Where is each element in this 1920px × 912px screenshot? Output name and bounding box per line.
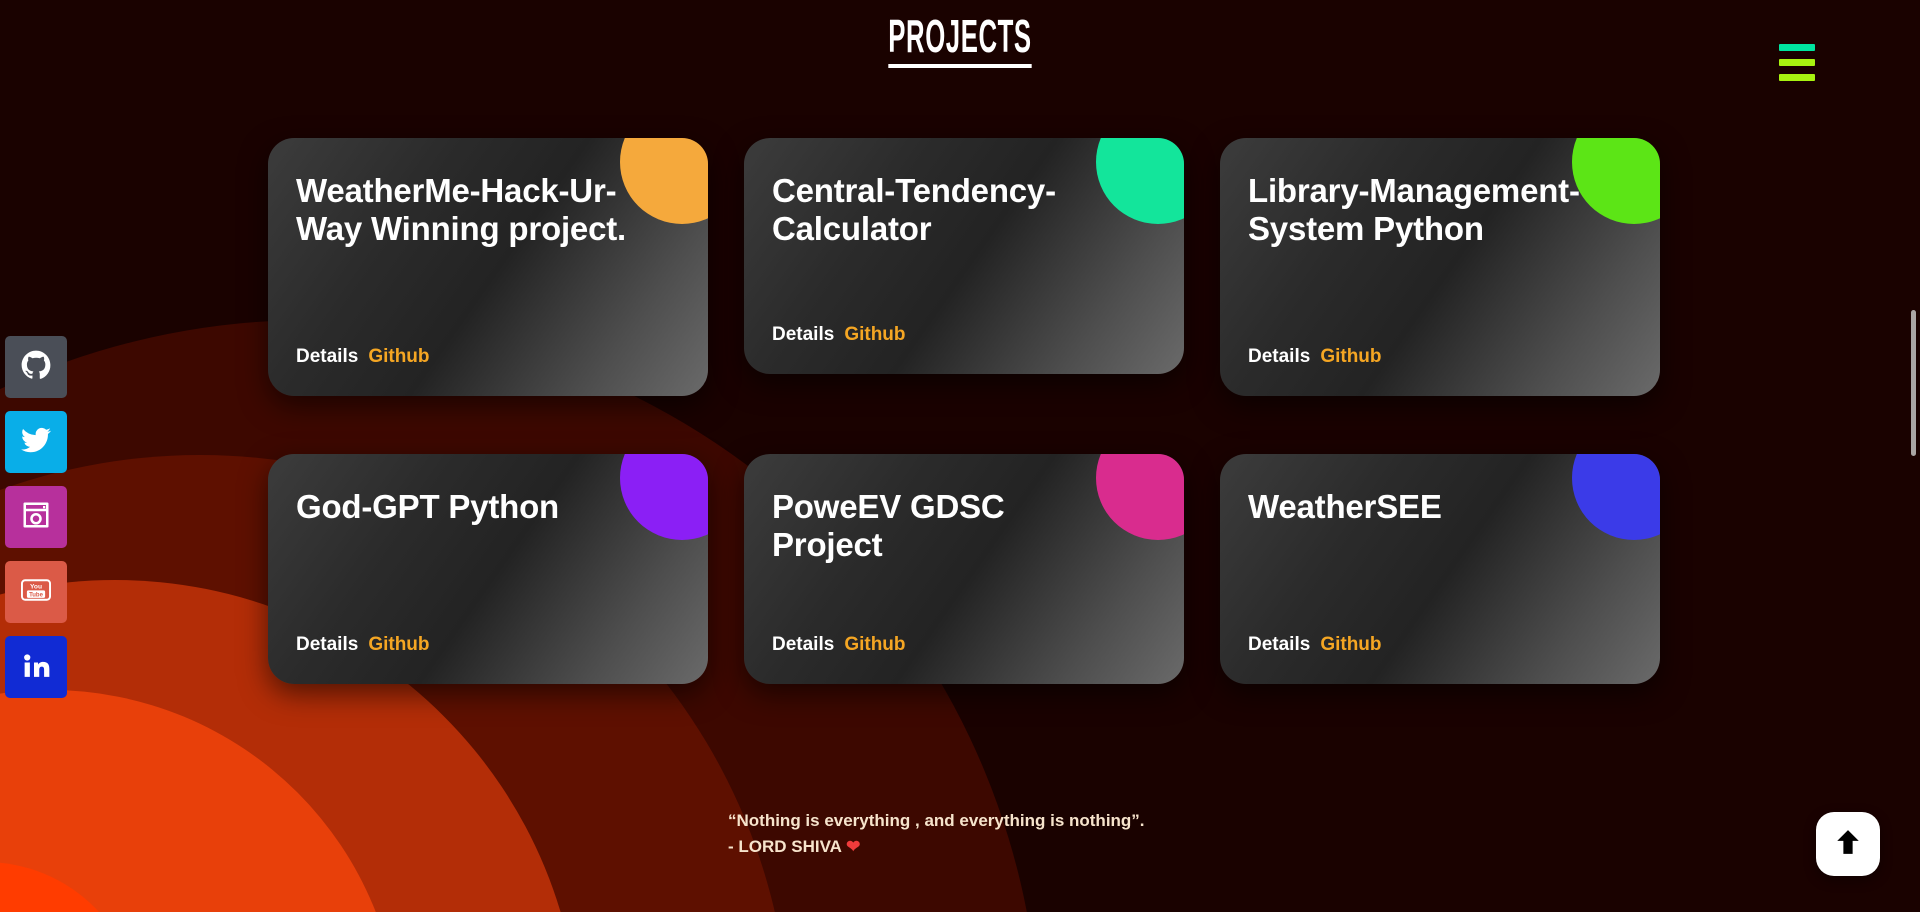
- background-ring-4: [0, 690, 400, 912]
- hamburger-bar-1: [1779, 44, 1815, 51]
- github-link[interactable]: Github: [1320, 634, 1381, 656]
- linkedin-icon: [21, 650, 51, 685]
- social-sidebar: YouTube: [5, 336, 67, 698]
- quote-line-2-wrap: - LORD SHIVA ❤: [728, 834, 1145, 860]
- social-link-youtube[interactable]: YouTube: [5, 561, 67, 623]
- details-link[interactable]: Details: [1248, 346, 1310, 368]
- projects-page: PROJECTS YouTube: [0, 0, 1920, 912]
- projects-grid: WeatherMe-Hack-Ur-Way Winning project. D…: [268, 138, 1668, 684]
- project-links: Details Github: [296, 346, 680, 368]
- hamburger-bar-3: [1779, 74, 1815, 81]
- project-card[interactable]: WeatherMe-Hack-Ur-Way Winning project. D…: [268, 138, 708, 396]
- hamburger-menu-icon[interactable]: [1779, 44, 1815, 81]
- github-link[interactable]: Github: [844, 324, 905, 346]
- page-title-text: PROJECTS: [888, 12, 1031, 68]
- project-links: Details Github: [1248, 634, 1632, 656]
- project-title: WeatherMe-Hack-Ur-Way Winning project.: [296, 172, 646, 247]
- svg-text:You: You: [30, 583, 42, 590]
- github-link[interactable]: Github: [368, 346, 429, 368]
- github-link[interactable]: Github: [1320, 346, 1381, 368]
- project-title: PoweEV GDSC Project: [772, 488, 1122, 563]
- details-link[interactable]: Details: [296, 346, 358, 368]
- project-card[interactable]: PoweEV GDSC Project Details Github: [744, 454, 1184, 684]
- project-title: WeatherSEE: [1248, 488, 1598, 526]
- details-link[interactable]: Details: [1248, 634, 1310, 656]
- footer-quote: “Nothing is everything , and everything …: [728, 808, 1145, 861]
- page-title: PROJECTS: [0, 12, 1920, 68]
- social-link-github[interactable]: [5, 336, 67, 398]
- project-title: God-GPT Python: [296, 488, 646, 526]
- svg-text:Tube: Tube: [29, 592, 44, 598]
- youtube-icon: YouTube: [21, 575, 51, 610]
- instagram-icon: [21, 500, 51, 535]
- background-ring-5: [0, 862, 140, 912]
- hamburger-bar-2: [1779, 59, 1815, 66]
- arrow-up-icon: [1833, 827, 1863, 862]
- social-link-linkedin[interactable]: [5, 636, 67, 698]
- quote-attribution: - LORD SHIVA: [728, 837, 841, 856]
- project-card[interactable]: God-GPT Python Details Github: [268, 454, 708, 684]
- project-links: Details Github: [772, 634, 1156, 656]
- page-scrollbar-track[interactable]: [1907, 0, 1917, 912]
- github-link[interactable]: Github: [844, 634, 905, 656]
- quote-line-1: “Nothing is everything , and everything …: [728, 808, 1145, 834]
- page-scrollbar-thumb[interactable]: [1911, 310, 1916, 456]
- details-link[interactable]: Details: [296, 634, 358, 656]
- project-links: Details Github: [296, 634, 680, 656]
- project-card[interactable]: Library-Management-System Python Details…: [1220, 138, 1660, 396]
- social-link-instagram[interactable]: [5, 486, 67, 548]
- project-links: Details Github: [772, 324, 1156, 346]
- heart-icon: ❤: [846, 837, 860, 856]
- twitter-icon: [21, 425, 51, 460]
- github-link[interactable]: Github: [368, 634, 429, 656]
- github-icon: [21, 350, 51, 385]
- project-links: Details Github: [1248, 346, 1632, 368]
- details-link[interactable]: Details: [772, 324, 834, 346]
- scroll-to-top-button[interactable]: [1816, 812, 1880, 876]
- project-card[interactable]: WeatherSEE Details Github: [1220, 454, 1660, 684]
- project-title: Library-Management-System Python: [1248, 172, 1598, 247]
- project-title: Central-Tendency-Calculator: [772, 172, 1122, 247]
- details-link[interactable]: Details: [772, 634, 834, 656]
- project-card[interactable]: Central-Tendency-Calculator Details Gith…: [744, 138, 1184, 374]
- social-link-twitter[interactable]: [5, 411, 67, 473]
